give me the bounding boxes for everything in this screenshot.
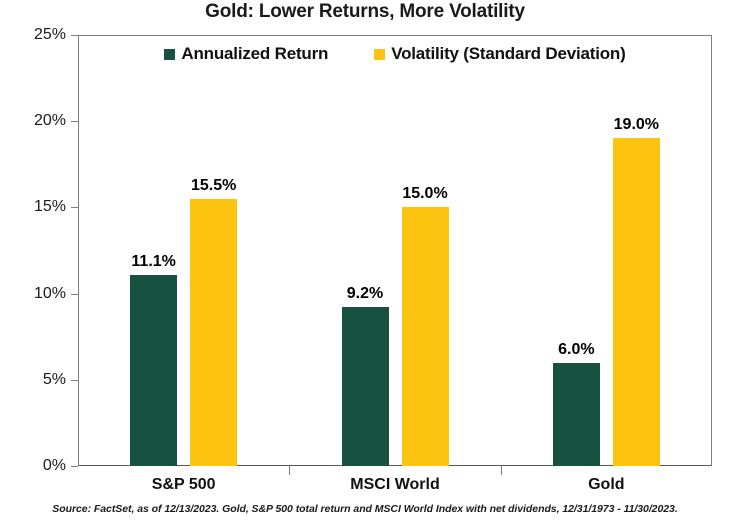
x-axis-separator-tick (289, 466, 290, 475)
y-axis-tick-label: 10% (6, 285, 66, 303)
y-axis-tick-mark (71, 121, 78, 122)
x-axis-category-label: Gold (588, 476, 624, 494)
bar-annualized-return[interactable] (130, 275, 177, 466)
y-axis-tick-label: 25% (6, 26, 66, 44)
y-axis-tick-mark (71, 466, 78, 467)
bar-value-label: 9.2% (347, 285, 383, 303)
bar-value-label: 11.1% (131, 253, 175, 271)
chart-legend: Annualized Return Volatility (Standard D… (78, 41, 712, 67)
y-axis-tick-mark (71, 294, 78, 295)
bar-annualized-return[interactable] (342, 307, 389, 466)
y-axis-tick-label: 20% (6, 112, 66, 130)
legend-label-annualized-return: Annualized Return (181, 44, 328, 64)
bar-volatility[interactable] (402, 207, 449, 466)
bar-value-label: 15.0% (402, 185, 447, 203)
legend-swatch-icon-annualized-return (164, 49, 175, 60)
bar-value-label: 6.0% (558, 341, 594, 359)
x-axis-category-label: MSCI World (350, 476, 439, 494)
x-axis-category-label: S&P 500 (152, 476, 216, 494)
source-note: Source: FactSet, as of 12/13/2023. Gold,… (0, 503, 730, 515)
legend-item-volatility[interactable]: Volatility (Standard Deviation) (374, 44, 625, 64)
x-axis-separator-tick (501, 466, 502, 475)
y-axis-tick-label: 5% (6, 371, 66, 389)
y-axis-tick-label: 0% (6, 457, 66, 475)
chart-title: Gold: Lower Returns, More Volatility (0, 1, 730, 23)
legend-item-annualized-return[interactable]: Annualized Return (164, 44, 328, 64)
bar-volatility[interactable] (613, 138, 660, 466)
legend-swatch-icon-volatility (374, 49, 385, 60)
y-axis-tick-mark (71, 35, 78, 36)
y-axis-tick-label: 15% (6, 198, 66, 216)
bar-value-label: 15.5% (191, 177, 236, 195)
y-axis-tick-mark (71, 380, 78, 381)
bar-volatility[interactable] (190, 199, 237, 466)
legend-label-volatility: Volatility (Standard Deviation) (391, 44, 625, 64)
bar-annualized-return[interactable] (553, 363, 600, 466)
y-axis-tick-mark (71, 207, 78, 208)
bar-value-label: 19.0% (614, 116, 659, 134)
bar-chart: Gold: Lower Returns, More Volatility 0%5… (0, 0, 730, 530)
